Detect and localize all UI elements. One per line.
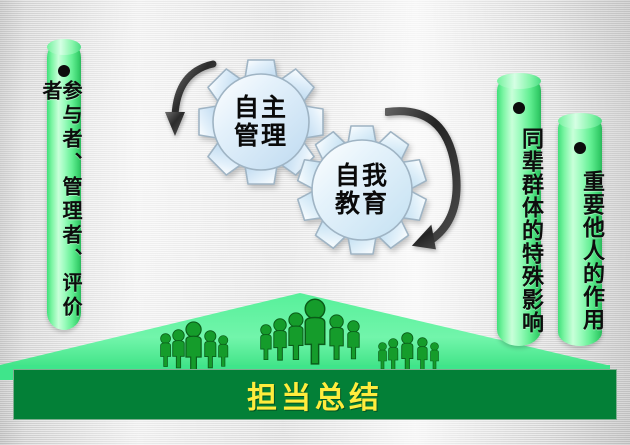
slide-canvas: 担当总结 参与者、管理者、评价者 同辈群体的特殊影响 重要他人的作用 [0, 0, 630, 445]
crowd-group-left [158, 315, 236, 371]
summary-banner: 担当总结 [13, 369, 617, 420]
pillar-label: 同辈群体的特殊影响 [497, 88, 541, 342]
pillar-cap [558, 113, 602, 129]
pillar-cap [497, 73, 541, 89]
pillar-label: 参与者、管理者、评价者 [47, 54, 81, 326]
pillar-participant-roles[interactable]: 参与者、管理者、评价者 [47, 40, 81, 330]
banner-title: 担当总结 [247, 373, 383, 417]
crowd-group-right [376, 330, 450, 372]
crowd-group-center [258, 298, 368, 372]
pillar-significant-others[interactable]: 重要他人的作用 [558, 114, 602, 346]
pillar-cap [47, 39, 81, 55]
pillar-peer-group-influence[interactable]: 同辈群体的特殊影响 [497, 74, 541, 346]
pillar-label: 重要他人的作用 [558, 128, 602, 342]
gear-self-education[interactable]: 自我 教育 [295, 123, 429, 257]
